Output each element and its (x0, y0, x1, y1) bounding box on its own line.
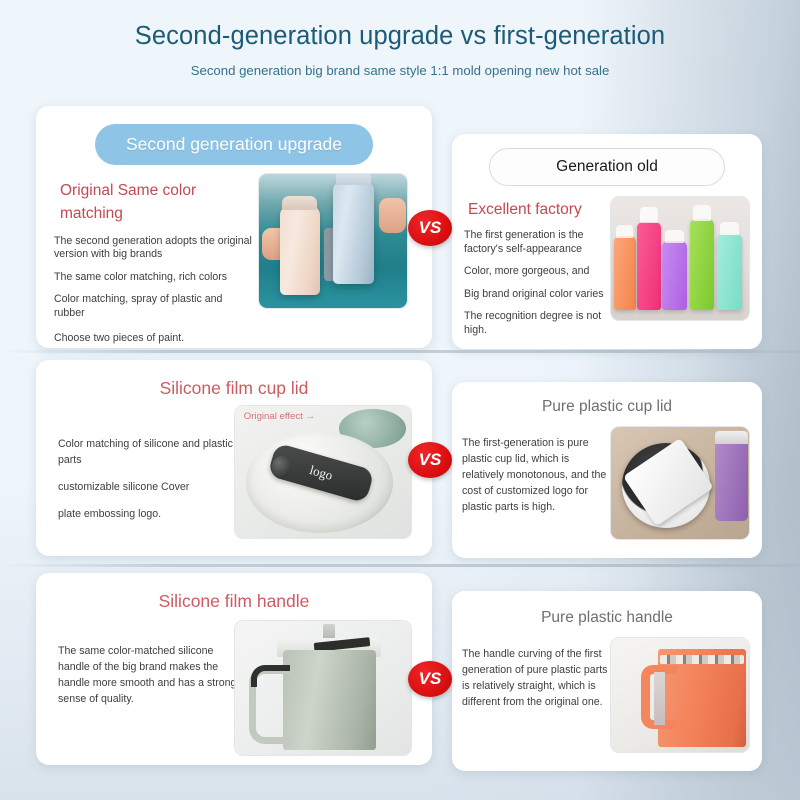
page-title: Second-generation upgrade vs first-gener… (0, 22, 800, 51)
vs-badge: VS (408, 442, 452, 478)
heading-silicone-film-handle: Silicone film handle (36, 591, 432, 612)
heading-original-same-color-matching: Original Same color matching (60, 179, 252, 226)
paragraph: Choose two pieces of paint. (54, 332, 252, 346)
vs-badge: VS (408, 210, 452, 246)
paragraph: Color matching, spray of plastic and rub… (54, 293, 252, 320)
card-silicone-film-cup-lid[interactable]: Silicone film cup lid Color matching of … (36, 360, 432, 556)
paragraph: customizable silicone Cover (58, 480, 248, 496)
comparison-row-color-matching: Second generation upgrade Original Same … (0, 104, 800, 354)
paragraph: The first generation is the factory's se… (464, 229, 616, 256)
photo-colorful-tumbler-lineup (610, 196, 750, 321)
card-second-generation-color-matching[interactable]: Second generation upgrade Original Same … (36, 106, 432, 348)
tumbler-body-grey (283, 650, 376, 749)
tumbler-purple (662, 241, 687, 310)
card-pure-plastic-handle[interactable]: Pure plastic handle The handle curving o… (452, 591, 762, 771)
tumbler-orange (614, 236, 636, 310)
photo-silicone-lid-with-logo: Original effect → logo (234, 405, 412, 539)
hand-shape (379, 198, 406, 233)
page-header: Second-generation upgrade vs first-gener… (0, 22, 800, 78)
paragraph: The recognition degree is not high. (464, 310, 616, 337)
tumbler-pink (637, 222, 660, 311)
row-divider (0, 564, 800, 567)
photo-two-tumblers-held-over-pool (258, 173, 408, 309)
photo-plain-plastic-lid (610, 426, 750, 540)
page-subtitle: Second generation big brand same style 1… (0, 63, 800, 78)
card-pure-plastic-cup-lid[interactable]: Pure plastic cup lid The first-generatio… (452, 382, 762, 558)
comparison-row-handle: Silicone film handle The same color-matc… (0, 569, 800, 784)
photo-orange-tumbler-plastic-handle (610, 637, 750, 753)
vs-badge: VS (408, 661, 452, 697)
photo-grey-tumbler-silicone-handle (234, 620, 412, 756)
handle-inner-gap (654, 672, 665, 724)
tumbler-light-blue (333, 182, 374, 284)
badge-generation-old: Generation old (489, 148, 725, 186)
lid-knob (272, 456, 291, 478)
paragraph: plate embossing logo. (58, 507, 248, 523)
heading-pure-plastic-cup-lid: Pure plastic cup lid (452, 398, 762, 416)
tumbler-purple (715, 440, 748, 521)
heading-pure-plastic-handle: Pure plastic handle (452, 609, 762, 627)
paragraph: Color matching of silicone and plastic p… (58, 437, 248, 469)
text-block-color-matching: Original Same color matching The second … (54, 179, 252, 346)
card-silicone-film-handle[interactable]: Silicone film handle The same color-matc… (36, 573, 432, 765)
paragraph: The handle curving of the first generati… (462, 647, 610, 711)
paragraph: The same color-matched silicone handle o… (58, 644, 246, 708)
comparison-rows: Second generation upgrade Original Same … (0, 104, 800, 784)
paragraph: Color, more gorgeous, and (464, 265, 616, 279)
paragraph: The second generation adopts the origina… (54, 235, 252, 262)
tumbler-cream (280, 206, 320, 294)
tumbler-rim (660, 655, 745, 664)
badge-second-generation-upgrade: Second generation upgrade (95, 124, 373, 165)
photo-caption-original-effect: Original effect → (244, 411, 315, 422)
paragraph: The first-generation is pure plastic cup… (462, 436, 610, 515)
paragraph: Big brand original color varies (464, 288, 616, 302)
card-generation-old-factory[interactable]: Generation old Excellent factory The fir… (452, 134, 762, 349)
text-block-pure-plastic-cup-lid: The first-generation is pure plastic cup… (462, 436, 610, 515)
comparison-row-cup-lid: Silicone film cup lid Color matching of … (0, 354, 800, 569)
tumbler-green (690, 219, 715, 310)
handle-silicone-grip (251, 665, 290, 686)
tumbler-mint (717, 234, 742, 310)
heading-silicone-film-cup-lid: Silicone film cup lid (36, 378, 432, 399)
text-block-pure-plastic-handle: The handle curving of the first generati… (462, 647, 610, 711)
row-divider (0, 350, 800, 353)
text-block-excellent-factory: Excellent factory The first generation i… (464, 198, 616, 338)
text-block-silicone-cup-lid: Color matching of silicone and plastic p… (58, 437, 248, 523)
heading-excellent-factory: Excellent factory (468, 198, 616, 221)
text-block-silicone-handle: The same color-matched silicone handle o… (58, 644, 246, 708)
paragraph: The same color matching, rich colors (54, 271, 252, 285)
